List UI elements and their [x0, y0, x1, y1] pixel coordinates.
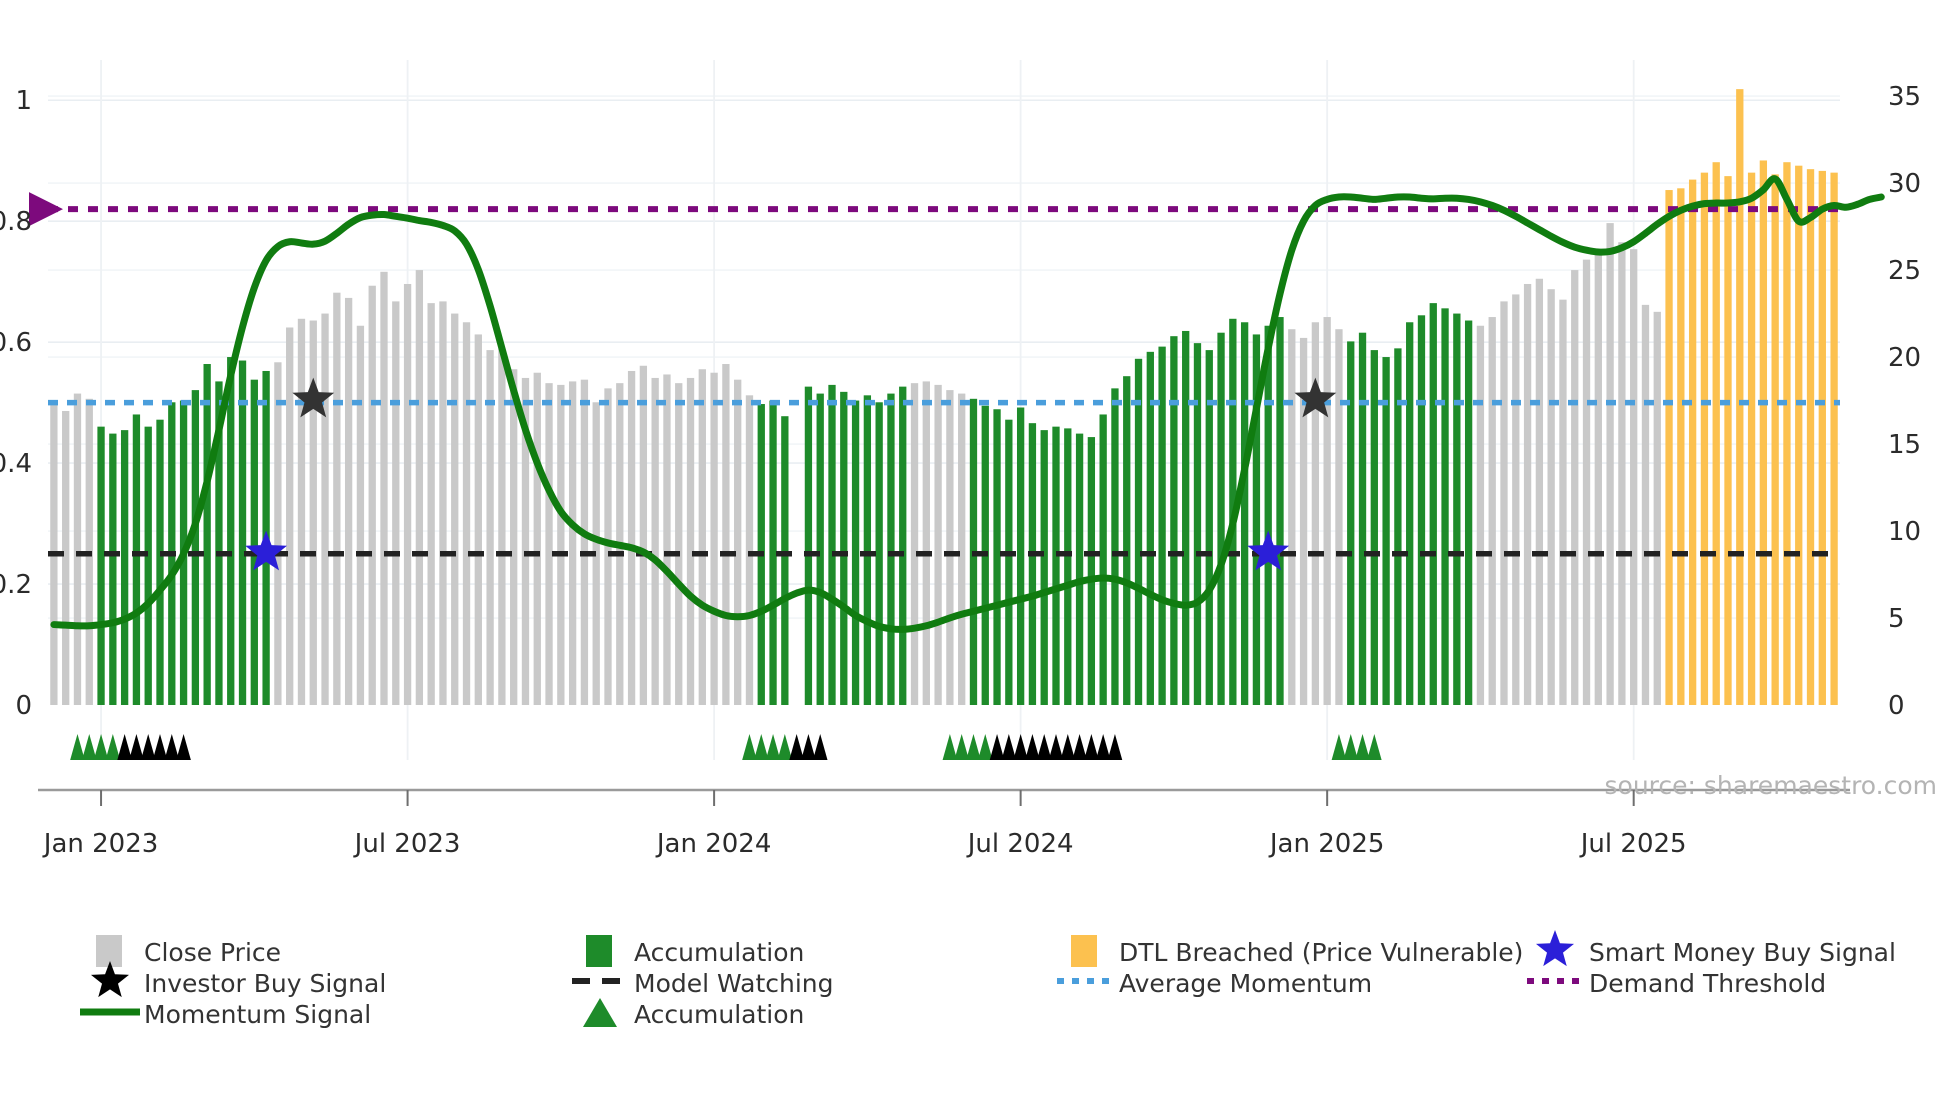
legend-item[interactable]: Model Watching: [572, 969, 834, 998]
x-axis-tick-label: Jan 2025: [1268, 829, 1385, 859]
left-axis-tick-label: 0.6: [0, 328, 32, 358]
accumulation-triangle-row: [70, 734, 1381, 760]
legend-item[interactable]: Close Price: [96, 935, 281, 967]
legend-item[interactable]: DTL Breached (Price Vulnerable): [1071, 935, 1523, 967]
chart-legend: Close PriceAccumulationDTL Breached (Pri…: [80, 930, 1896, 1029]
legend-item[interactable]: Average Momentum: [1057, 969, 1372, 998]
legend-item[interactable]: Momentum Signal: [80, 1000, 371, 1029]
left-axis-tick-label: 1: [15, 86, 32, 116]
square-icon: [96, 935, 122, 967]
square-icon: [586, 935, 612, 967]
x-axis-tick-label: Jan 2024: [655, 829, 772, 859]
legend-item-label: DTL Breached (Price Vulnerable): [1119, 938, 1523, 967]
legend-item-label: Average Momentum: [1119, 969, 1372, 998]
chart-svg: 00.20.40.60.81 05101520253035 Jan 2023Ju…: [0, 0, 1960, 1102]
square-icon: [1071, 935, 1097, 967]
right-axis-ticks: 05101520253035: [1888, 82, 1921, 721]
right-axis-tick-label: 15: [1888, 430, 1921, 460]
left-axis-tick-label: 0.8: [0, 207, 32, 237]
legend-item-label: Close Price: [144, 938, 281, 967]
right-axis-tick-label: 20: [1888, 343, 1921, 373]
legend-item[interactable]: Smart Money Buy Signal: [1536, 930, 1896, 967]
right-axis-tick-label: 25: [1888, 256, 1921, 286]
legend-item-label: Model Watching: [634, 969, 834, 998]
legend-item[interactable]: Accumulation: [583, 998, 804, 1029]
left-axis-ticks: 00.20.40.60.81: [0, 86, 32, 721]
legend-item-label: Smart Money Buy Signal: [1589, 938, 1896, 967]
x-axis-tick-label: Jul 2025: [1579, 829, 1687, 859]
triangle-up-icon: [583, 998, 617, 1027]
legend-item[interactable]: Accumulation: [586, 935, 804, 967]
right-axis-tick-label: 30: [1888, 169, 1921, 199]
legend-item-label: Momentum Signal: [144, 1000, 371, 1029]
x-axis-tick-label: Jan 2023: [42, 829, 159, 859]
star-icon: [1536, 930, 1574, 966]
legend-item-label: Investor Buy Signal: [144, 969, 386, 998]
source-attribution: source: sharemaestro.com: [1605, 771, 1938, 800]
x-axis-tick-label: Jul 2024: [966, 829, 1074, 859]
x-axis-tick-label: Jul 2023: [353, 829, 461, 859]
right-axis-tick-label: 0: [1888, 691, 1905, 721]
left-axis-tick-label: 0.2: [0, 570, 32, 600]
left-axis-tick-label: 0: [15, 691, 32, 721]
legend-item-label: Accumulation: [634, 938, 804, 967]
legend-item-label: Accumulation: [634, 1000, 804, 1029]
right-axis-tick-label: 35: [1888, 82, 1921, 112]
right-axis-tick-label: 5: [1888, 604, 1905, 634]
x-axis-ticks: Jan 2023Jul 2023Jan 2024Jul 2024Jan 2025…: [42, 790, 1687, 859]
legend-item-label: Demand Threshold: [1589, 969, 1826, 998]
chart-container: 00.20.40.60.81 05101520253035 Jan 2023Ju…: [0, 0, 1960, 1102]
left-axis-tick-label: 0.4: [0, 449, 32, 479]
right-axis-tick-label: 10: [1888, 517, 1921, 547]
legend-item[interactable]: Demand Threshold: [1527, 969, 1826, 998]
